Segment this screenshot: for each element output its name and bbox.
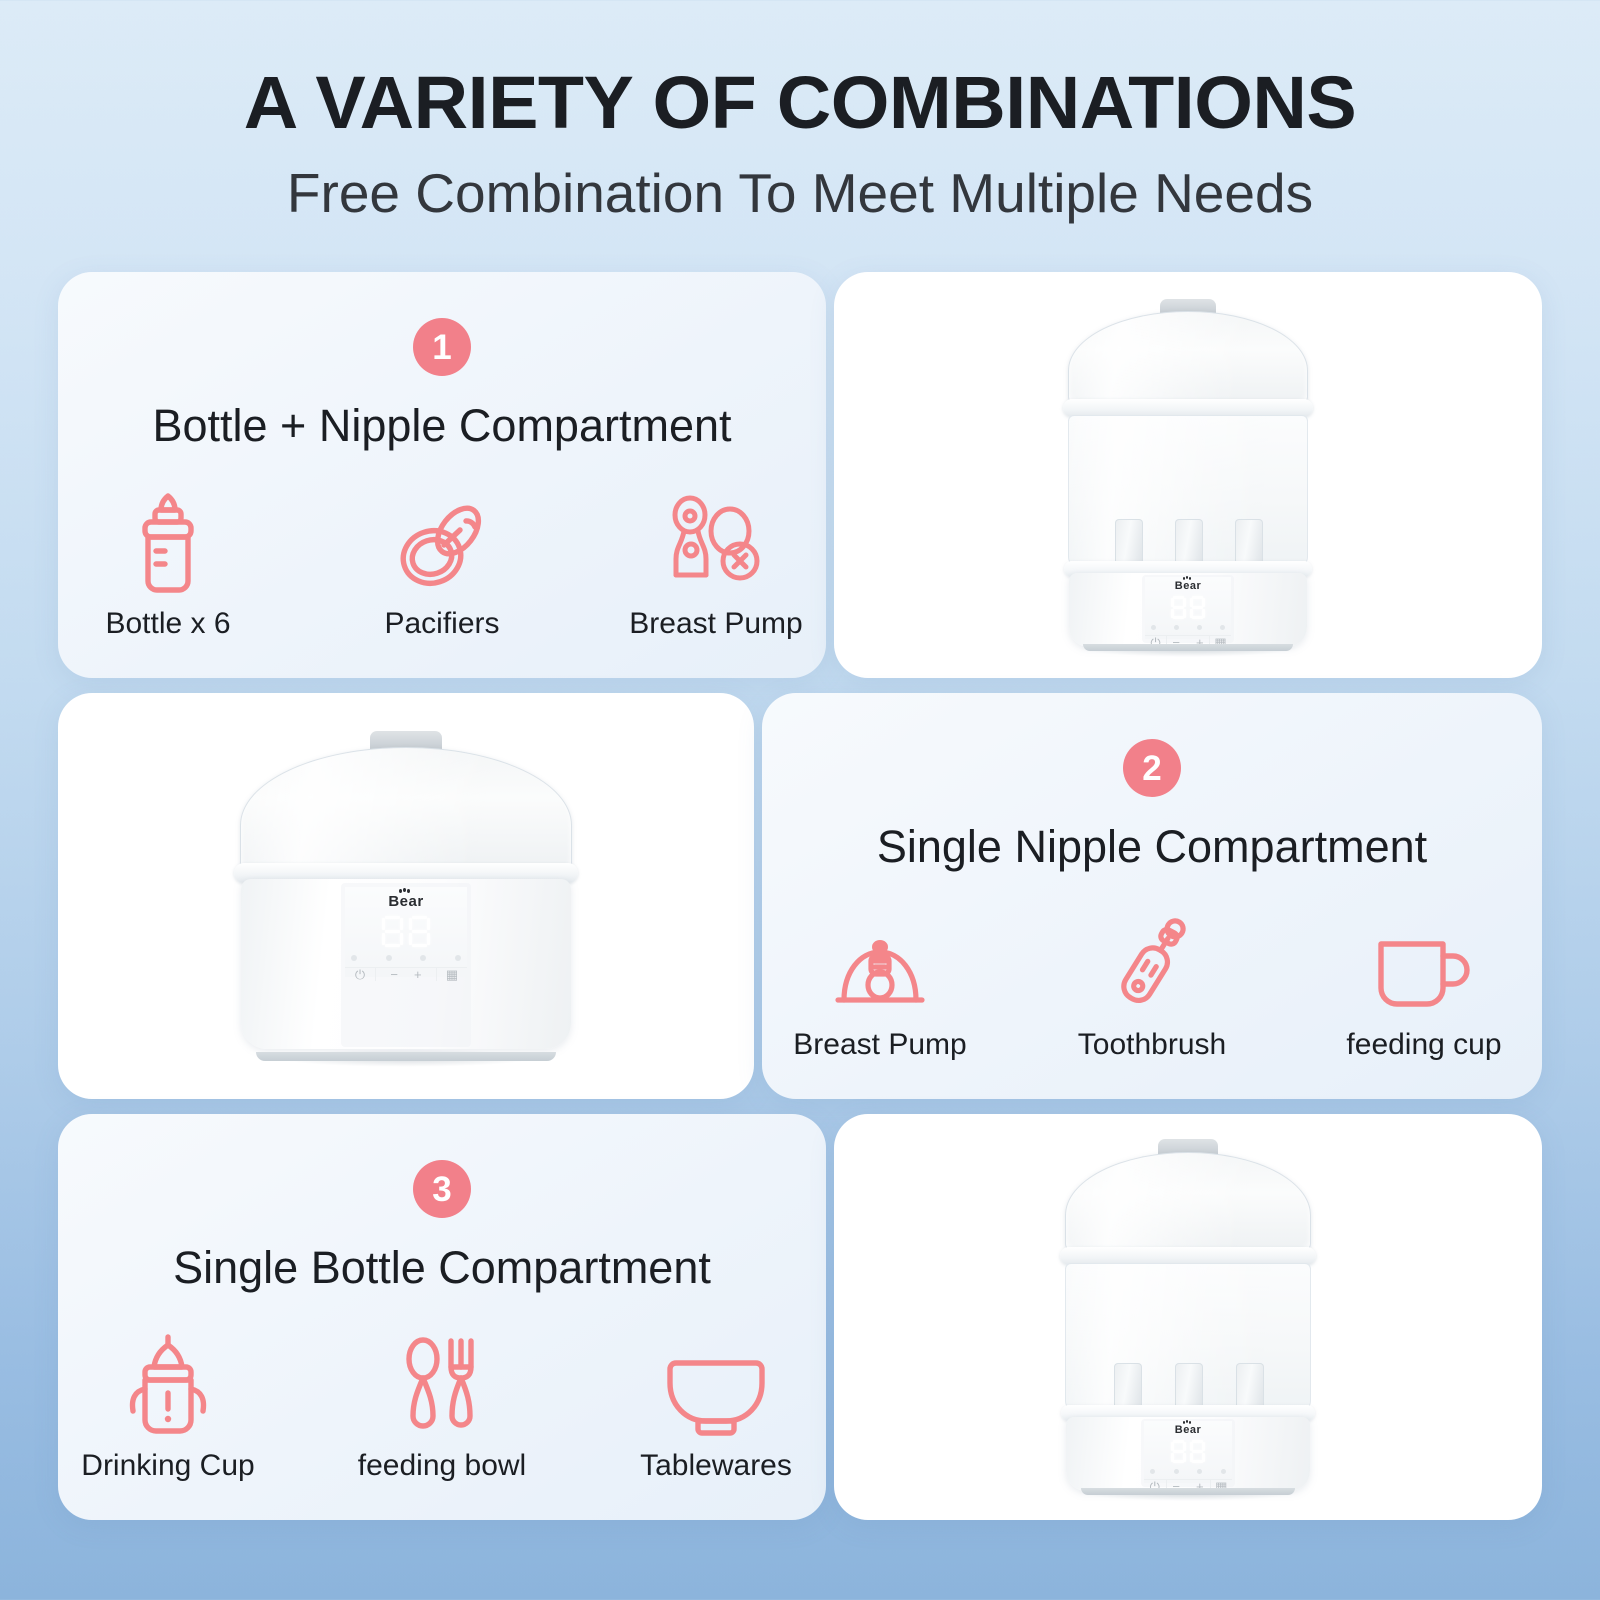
paw-icon: [1183, 576, 1192, 583]
indicator-dot: [1174, 1469, 1179, 1474]
product-photo-card-2: Bear ⏻ −+ ▦: [58, 693, 754, 1099]
brand-logo: Bear: [1175, 1425, 1201, 1436]
combination-row-3: 3 Single Bottle Compartment Dri: [58, 1114, 1542, 1520]
product-photo-card-1: Bear ⏻ −+ ▦: [834, 272, 1542, 678]
indicator-dot: [351, 955, 357, 961]
accessory-label: Toothbrush: [1078, 1030, 1226, 1060]
paw-icon: [1183, 1420, 1192, 1427]
clear-chamber: [1068, 415, 1308, 567]
drinking-cup-icon: [120, 1329, 216, 1437]
brand-logo: Bear: [388, 894, 423, 909]
accessory-label: Breast Pump: [629, 609, 802, 639]
feeding-cup-icon: [1371, 908, 1477, 1016]
led-digit: [409, 916, 430, 947]
combination-card-3: 3 Single Bottle Compartment Dri: [58, 1114, 826, 1520]
card-title-3: Single Bottle Compartment: [173, 1244, 711, 1291]
toothbrush-icon: [1106, 908, 1198, 1016]
card-title-1: Bottle + Nipple Compartment: [152, 402, 731, 449]
indicator-dot: [386, 955, 392, 961]
sterilizer-tall-photo: Bear ⏻ −+ ▦: [1038, 299, 1338, 651]
status-indicators: [1145, 625, 1231, 630]
spoon-fork-icon: [399, 1329, 485, 1437]
led-display: [1171, 1440, 1205, 1463]
dome-lid: [1065, 1152, 1311, 1254]
indicator-dot: [1150, 1469, 1155, 1474]
combination-row-1: 1 Bottle + Nipple Compartment Bottle x 6: [58, 272, 1542, 678]
control-panel: Bear ⏻ −+ ▦: [1145, 577, 1231, 639]
button-row: ⏻ −+ ▦: [345, 967, 467, 981]
adjust-buttons[interactable]: −+: [375, 968, 436, 981]
accessory-item[interactable]: feeding cup: [1324, 908, 1524, 1060]
accessory-item[interactable]: Bottle x 6: [73, 487, 263, 639]
led-digit: [1190, 1440, 1205, 1463]
page-header: A VARIETY OF COMBINATIONS Free Combinati…: [0, 0, 1600, 221]
accessory-label: Bottle x 6: [105, 609, 230, 639]
card-gap: [826, 1114, 834, 1520]
indicator-dot: [1197, 625, 1202, 630]
card-gap: [826, 272, 834, 678]
accessory-item[interactable]: Drinking Cup: [73, 1329, 263, 1481]
product-photo-card-3: Bear ⏻ −+ ▦: [834, 1114, 1542, 1520]
accessory-label: feeding bowl: [358, 1451, 526, 1481]
sterilizer-full-photo: Bear ⏻ −+ ▦: [1035, 1139, 1341, 1495]
led-digit: [1171, 1440, 1186, 1463]
indicator-dot: [1220, 625, 1225, 630]
bottle-peg: [1175, 1363, 1203, 1410]
card-gap: [754, 693, 762, 1099]
combination-card-1: 1 Bottle + Nipple Compartment Bottle x 6: [58, 272, 826, 678]
page-title: A VARIETY OF COMBINATIONS: [0, 66, 1600, 140]
led-digit: [1190, 596, 1205, 619]
led-digit: [1171, 596, 1186, 619]
card-title-2: Single Nipple Compartment: [877, 823, 1427, 870]
status-indicators: [1144, 1469, 1232, 1474]
led-digit: [382, 916, 403, 947]
brand-name: Bear: [388, 893, 423, 910]
minus-button[interactable]: −: [390, 968, 398, 981]
bottle-peg: [1175, 519, 1203, 566]
accessory-item[interactable]: Toothbrush: [1052, 908, 1252, 1060]
accessory-label: Tablewares: [640, 1451, 792, 1481]
step-badge-3: 3: [413, 1160, 471, 1218]
sterilizer-compact-photo: Bear ⏻ −+ ▦: [211, 731, 601, 1061]
dome-lid: [240, 747, 572, 873]
accessory-list-1: Bottle x 6 Pacifiers: [73, 487, 811, 639]
status-indicators: [345, 955, 467, 961]
pacifier-icon: [392, 487, 492, 595]
breast-pump-icon: [664, 487, 768, 595]
paw-icon: [399, 888, 411, 895]
combination-card-2: 2 Single Nipple Compartment Breast Pump: [762, 693, 1542, 1099]
unit-foot: [256, 1052, 556, 1061]
accessory-list-2: Breast Pump Toothbrus: [780, 908, 1524, 1060]
indicator-dot: [455, 955, 461, 961]
baby-bottle-icon: [129, 487, 207, 595]
accessory-label: Drinking Cup: [81, 1451, 254, 1481]
step-badge-2: 2: [1123, 739, 1181, 797]
unit-foot: [1081, 1488, 1295, 1495]
accessory-item[interactable]: feeding bowl: [347, 1329, 537, 1481]
control-panel: Bear ⏻ −+ ▦: [345, 887, 467, 977]
indicator-dot: [1174, 625, 1179, 630]
bottle-peg: [1115, 519, 1143, 566]
breast-pump-shield-icon: [828, 908, 932, 1016]
brand-logo: Bear: [1175, 581, 1201, 592]
accessory-label: Pacifiers: [384, 609, 499, 639]
accessory-item[interactable]: Tablewares: [621, 1329, 811, 1481]
mode-button[interactable]: ▦: [436, 968, 467, 981]
bottle-peg: [1114, 1363, 1142, 1410]
accessory-label: Breast Pump: [793, 1030, 966, 1060]
accessory-item[interactable]: Pacifiers: [347, 487, 537, 639]
bottle-peg: [1236, 1363, 1264, 1410]
accessory-label: feeding cup: [1346, 1030, 1501, 1060]
indicator-dot: [1221, 1469, 1226, 1474]
accessory-item[interactable]: Breast Pump: [621, 487, 811, 639]
combination-row-2: Bear ⏻ −+ ▦: [58, 693, 1542, 1099]
indicator-dot: [1151, 625, 1156, 630]
accessory-item[interactable]: Breast Pump: [780, 908, 980, 1060]
power-button[interactable]: ⏻: [345, 968, 375, 981]
bottle-peg: [1235, 519, 1263, 566]
page-subtitle: Free Combination To Meet Multiple Needs: [0, 166, 1600, 221]
control-panel: Bear ⏻ −+ ▦: [1144, 1421, 1232, 1483]
accessory-list-3: Drinking Cup feeding bowl: [73, 1329, 811, 1481]
bowl-icon: [664, 1329, 768, 1437]
dome-lid: [1068, 311, 1308, 407]
unit-foot: [1083, 644, 1293, 651]
indicator-dot: [1197, 1469, 1202, 1474]
clear-chamber: [1065, 1263, 1311, 1411]
step-badge-1: 1: [413, 318, 471, 376]
plus-button[interactable]: +: [414, 968, 422, 981]
indicator-dot: [420, 955, 426, 961]
led-display: [1171, 596, 1205, 619]
led-display: [382, 916, 430, 947]
